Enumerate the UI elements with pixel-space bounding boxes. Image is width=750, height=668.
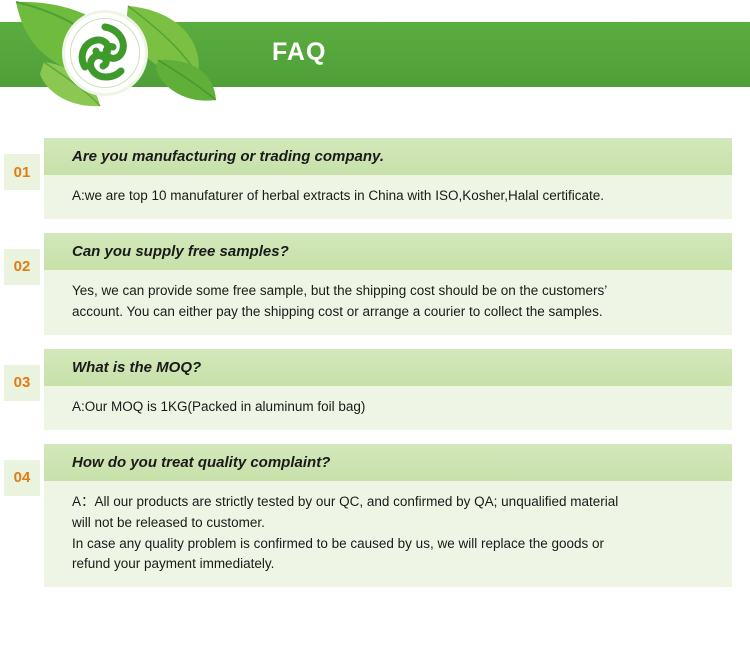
- logo-inner-circle: [70, 18, 140, 88]
- faq-answer: A:Our MOQ is 1KG(Packed in aluminum foil…: [44, 386, 732, 430]
- faq-item: 04 How do you treat quality complaint? A…: [0, 444, 750, 588]
- faq-item: 03 What is the MOQ? A:Our MOQ is 1KG(Pac…: [0, 349, 750, 430]
- faq-number: 04: [4, 460, 40, 496]
- page-header: FAQ: [0, 0, 750, 110]
- faq-answer-line: A:Our MOQ is 1KG(Packed in aluminum foil…: [72, 397, 710, 418]
- faq-answer-line: refund your payment immediately.: [72, 554, 710, 575]
- faq-answer-line: A：All our products are strictly tested b…: [72, 492, 710, 513]
- faq-question: Are you manufacturing or trading company…: [44, 138, 732, 175]
- faq-question: What is the MOQ?: [44, 349, 732, 386]
- faq-item: 01 Are you manufacturing or trading comp…: [0, 138, 750, 219]
- faq-number: 01: [4, 154, 40, 190]
- faq-question: Can you supply free samples?: [44, 233, 732, 270]
- faq-item: 02 Can you supply free samples? Yes, we …: [0, 233, 750, 335]
- faq-number: 02: [4, 249, 40, 285]
- faq-answer-line: A:we are top 10 manufaturer of herbal ex…: [72, 186, 710, 207]
- faq-answer: A:we are top 10 manufaturer of herbal ex…: [44, 175, 732, 219]
- page-title: FAQ: [272, 38, 326, 67]
- faq-answer: Yes, we can provide some free sample, bu…: [44, 270, 732, 335]
- faq-answer-line: account. You can either pay the shipping…: [72, 302, 710, 323]
- faq-answer-line: will not be released to customer.: [72, 513, 710, 534]
- faq-answer-line: In case any quality problem is confirmed…: [72, 534, 710, 555]
- faq-list: 01 Are you manufacturing or trading comp…: [0, 110, 750, 587]
- faq-number: 03: [4, 365, 40, 401]
- faq-question: How do you treat quality complaint?: [44, 444, 732, 481]
- faq-answer-line: Yes, we can provide some free sample, bu…: [72, 281, 710, 302]
- faq-answer: A：All our products are strictly tested b…: [44, 481, 732, 588]
